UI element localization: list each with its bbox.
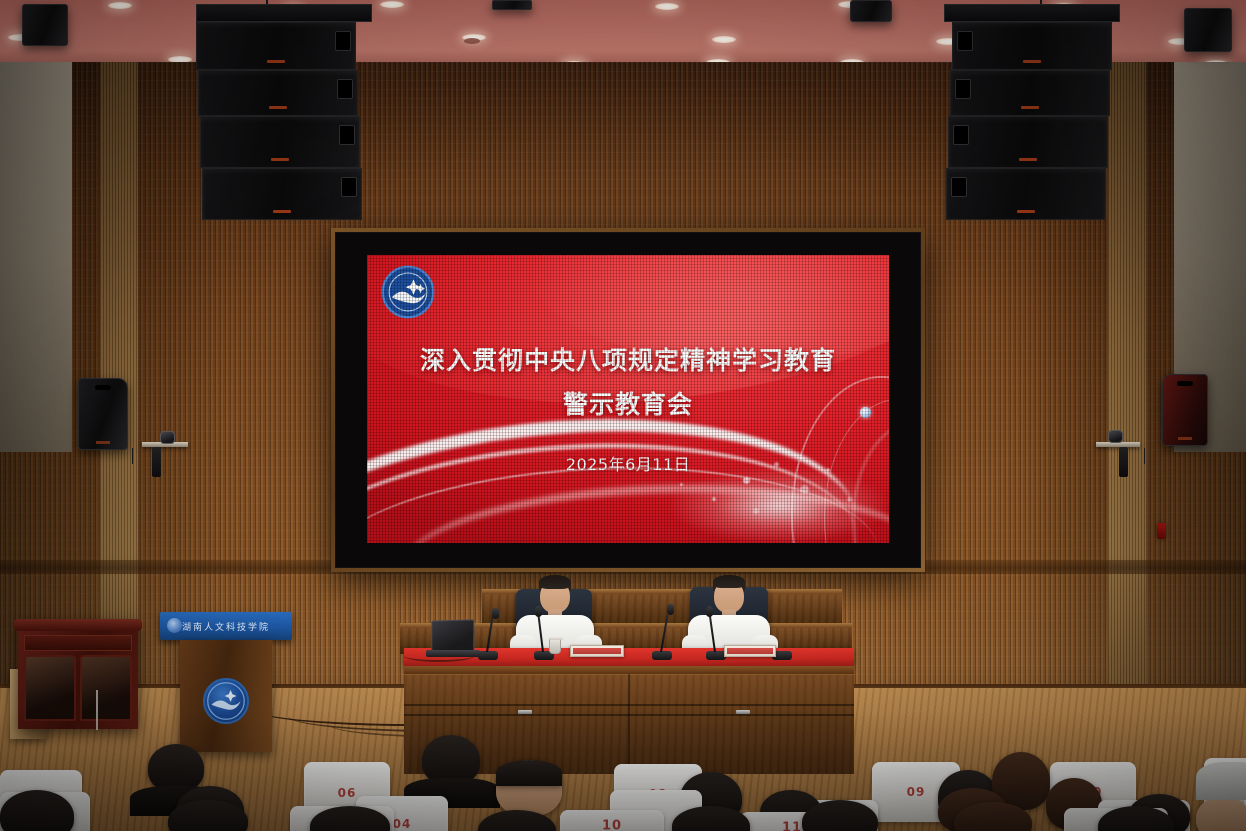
- rostrum-handle: [518, 710, 532, 714]
- ceiling-downlight: [655, 3, 679, 10]
- microphone-stem: [709, 614, 716, 652]
- speaker-port: [951, 177, 967, 197]
- seat-number: 10: [560, 819, 664, 831]
- nameplate-face: [727, 648, 773, 654]
- microphone-stem: [660, 614, 669, 652]
- corner-speaker-left-upper: [850, 0, 892, 22]
- corner-speaker-right-upper: [492, 0, 532, 10]
- speaker-led: [1021, 106, 1039, 109]
- speaker-cabinet: [946, 168, 1106, 220]
- corner-speaker-right: [1184, 8, 1232, 52]
- cabinet-cornice: [14, 619, 142, 631]
- rostrum-edge: [404, 666, 854, 674]
- camera-icon: [160, 431, 175, 444]
- audience-shoulders: [1196, 762, 1246, 800]
- screen-bokeh: [743, 477, 750, 484]
- hair-top: [539, 575, 571, 589]
- screen-title-line-1: 深入贯彻中央八项规定精神学习教育: [367, 339, 889, 383]
- display-cabinet: [18, 619, 138, 729]
- screen-bokeh: [712, 497, 716, 501]
- microphone-head: [535, 606, 542, 617]
- speaker-cabinet: [196, 22, 356, 70]
- lectern-banner-text: 湖南人文科技学院: [182, 620, 270, 633]
- cabinet-glass-door: [80, 655, 132, 721]
- speaker-badge: [1178, 437, 1192, 440]
- microphone-base: [706, 651, 726, 660]
- lectern-body: [180, 640, 272, 752]
- screen-title: 深入贯彻中央八项规定精神学习教育 警示教育会: [367, 339, 889, 427]
- cabinet-drawer: [24, 635, 132, 651]
- screen-indicator-icon: [860, 407, 871, 418]
- wall-speaker-right: [1162, 374, 1208, 446]
- hair-top: [713, 575, 745, 588]
- speaker-port: [957, 31, 973, 51]
- speaker-port: [953, 125, 969, 145]
- ceiling-downlight: [108, 2, 132, 9]
- microphone-stem: [537, 614, 544, 652]
- led-screen: 深入贯彻中央八项规定精神学习教育 警示教育会 2025年6月11日: [331, 228, 925, 572]
- speaker-led: [271, 158, 289, 161]
- speaker-led: [1023, 60, 1041, 63]
- side-wall-left: [0, 62, 72, 452]
- cabinet-glass-door: [24, 655, 76, 721]
- speaker-port: [341, 177, 357, 197]
- lectern: 湖南人文科技学院: [160, 612, 292, 752]
- cable: [96, 690, 98, 730]
- screen-date: 2025年6月11日: [367, 451, 889, 475]
- tea-cup: [549, 638, 561, 654]
- speaker-cabinet: [200, 116, 360, 168]
- audience-head: [496, 760, 562, 786]
- speaker-led: [1019, 158, 1037, 161]
- screen-title-line-2: 警示教育会: [367, 383, 889, 427]
- speaker-port: [339, 125, 355, 145]
- speaker-cabinet: [950, 70, 1110, 116]
- audience-head: [148, 744, 204, 792]
- university-emblem-icon: [381, 265, 435, 319]
- speaker-led: [267, 60, 285, 63]
- fire-alarm-icon: [1157, 523, 1166, 539]
- cable: [132, 448, 133, 464]
- microphone-base: [652, 651, 672, 660]
- table-cable: [404, 650, 474, 662]
- nameplate-face: [573, 648, 621, 654]
- speaker-led: [1017, 210, 1035, 213]
- line-array-speaker-left: [196, 4, 372, 220]
- tea-cup-lid: [549, 636, 563, 640]
- speaker-badge: [96, 441, 110, 444]
- camera-icon: [1108, 430, 1123, 443]
- screen-bokeh: [680, 483, 683, 486]
- auditorium-photo: 深入贯彻中央八项规定精神学习教育 警示教育会 2025年6月11日 湖南人文科技…: [0, 0, 1246, 831]
- speaker-led: [269, 106, 287, 109]
- speaker-fly-bar: [196, 4, 372, 22]
- speaker-fly-bar: [944, 4, 1120, 22]
- speaker-port: [335, 31, 351, 51]
- university-seal-icon: [203, 678, 249, 724]
- speaker-cabinet: [202, 168, 362, 220]
- ceiling-downlight: [380, 1, 404, 8]
- microphone-base: [478, 651, 498, 660]
- microphone-left: [478, 608, 498, 660]
- lectern-banner: 湖南人文科技学院: [160, 612, 292, 640]
- audience-seat: 10: [560, 810, 664, 831]
- speaker-cabinet: [952, 22, 1112, 70]
- microphone-head: [706, 606, 713, 617]
- speaker-slot: [95, 385, 111, 390]
- wall-speaker-left: [78, 378, 128, 450]
- nameplate-right: [724, 645, 776, 657]
- speaker-slot: [1177, 381, 1193, 386]
- nameplate-left: [570, 645, 624, 657]
- ceiling-vent: [464, 38, 480, 44]
- camera-mount-left: [152, 447, 161, 477]
- microphone-right-b: [706, 606, 726, 660]
- laptop-screen: [431, 619, 474, 652]
- lectern-banner-emblem-icon: [167, 618, 182, 633]
- line-array-speaker-right: [944, 4, 1120, 220]
- rostrum-handle: [736, 710, 750, 714]
- microphone-stem: [486, 614, 494, 652]
- microphone-head: [667, 604, 674, 615]
- camera-mount-right: [1119, 447, 1128, 477]
- speaker-port: [955, 79, 971, 99]
- speaker-port: [337, 79, 353, 99]
- microphone-head: [492, 608, 499, 619]
- led-screen-content: 深入贯彻中央八项规定精神学习教育 警示教育会 2025年6月11日: [367, 255, 889, 543]
- cable: [1144, 448, 1145, 464]
- ceiling-downlight: [712, 36, 736, 43]
- speaker-cabinet: [948, 116, 1108, 168]
- microphone-right-a: [652, 604, 672, 660]
- audience-head: [1196, 796, 1246, 831]
- speaker-cabinet: [198, 70, 358, 116]
- speaker-led: [273, 210, 291, 213]
- corner-speaker-left: [22, 4, 68, 46]
